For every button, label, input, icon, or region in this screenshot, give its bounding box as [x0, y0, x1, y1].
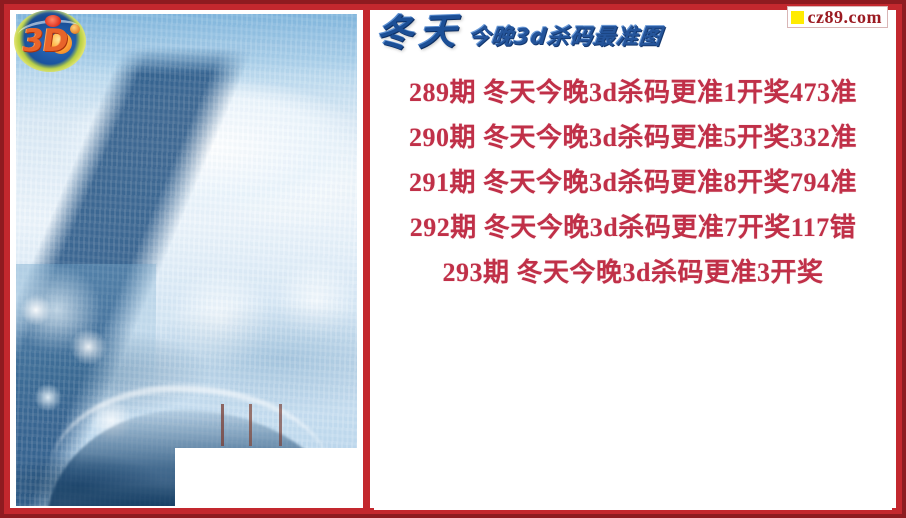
watermark-square-icon [791, 11, 804, 24]
photo-roadside-posts [221, 404, 341, 446]
page-title: 冬天 今晚3d杀码最准图 [376, 14, 662, 51]
logo-orange-dot-icon [70, 24, 80, 34]
panel-divider [363, 10, 370, 510]
winter-mountain-photo [16, 14, 357, 506]
content-panel: 冬天 今晚3d杀码最准图 289期 冬天今晚3d杀码更准1开奖473准 290期… [374, 10, 892, 510]
list-item: 293期 冬天今晚3d杀码更准3开奖 [374, 248, 892, 293]
results-list: 289期 冬天今晚3d杀码更准1开奖473准 290期 冬天今晚3d杀码更准5开… [374, 68, 892, 293]
list-item: 292期 冬天今晚3d杀码更准7开奖117错 [374, 203, 892, 248]
site-watermark: cz89.com [787, 6, 888, 28]
title-main: 冬天 [375, 13, 464, 53]
list-item: 289期 冬天今晚3d杀码更准1开奖473准 [374, 68, 892, 113]
result-row-text: 289期 冬天今晚3d杀码更准1开奖473准 [409, 72, 857, 109]
list-item: 291期 冬天今晚3d杀码更准8开奖794准 [374, 158, 892, 203]
title-subtitle: 今晚3d杀码最准图 [467, 27, 663, 49]
result-row-text: 290期 冬天今晚3d杀码更准5开奖332准 [409, 117, 857, 154]
watermark-text: cz89.com [808, 8, 882, 26]
result-row-text: 292期 冬天今晚3d杀码更准7开奖117错 [410, 207, 857, 244]
lottery-3d-logo: 3D [14, 10, 86, 72]
result-row-text: 291期 冬天今晚3d杀码更准8开奖794准 [409, 162, 857, 199]
list-item: 290期 冬天今晚3d杀码更准5开奖332准 [374, 113, 892, 158]
photo-white-overlay [175, 448, 357, 506]
result-row-text: 293期 冬天今晚3d杀码更准3开奖 [443, 252, 824, 289]
page-root: 3D 冬天 今晚3d杀码最准图 289期 冬天今晚3d杀码更准1开奖473准 2… [0, 0, 906, 518]
logo-3d-text: 3D [20, 26, 70, 57]
